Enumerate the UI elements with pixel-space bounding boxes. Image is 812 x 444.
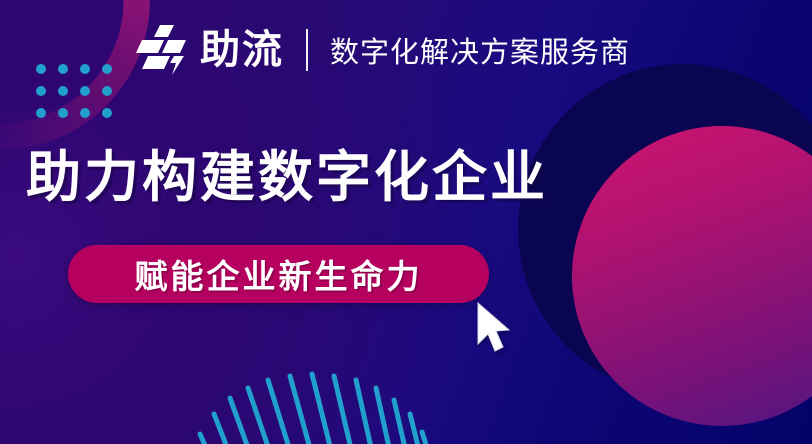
zhuliu-lightning-logo-icon <box>134 23 192 77</box>
cta-pill-label: 赋能企业新生命力 <box>135 250 423 298</box>
header-divider <box>306 29 308 71</box>
cta-pill-button[interactable]: 赋能企业新生命力 <box>68 245 489 303</box>
page-title: 助力构建数字化企业 <box>26 148 548 207</box>
dot-grid-icon <box>36 64 124 130</box>
promo-banner: 助流 数字化解决方案服务商 助力构建数字化企业 赋能企业新生命力 <box>0 0 812 444</box>
brand-name: 助流 <box>200 30 284 70</box>
cyan-fan-lines-icon <box>108 352 438 444</box>
mouse-cursor-icon <box>476 302 516 356</box>
header-tagline: 数字化解决方案服务商 <box>330 29 630 71</box>
banner-header: 助流 数字化解决方案服务商 <box>134 18 630 82</box>
